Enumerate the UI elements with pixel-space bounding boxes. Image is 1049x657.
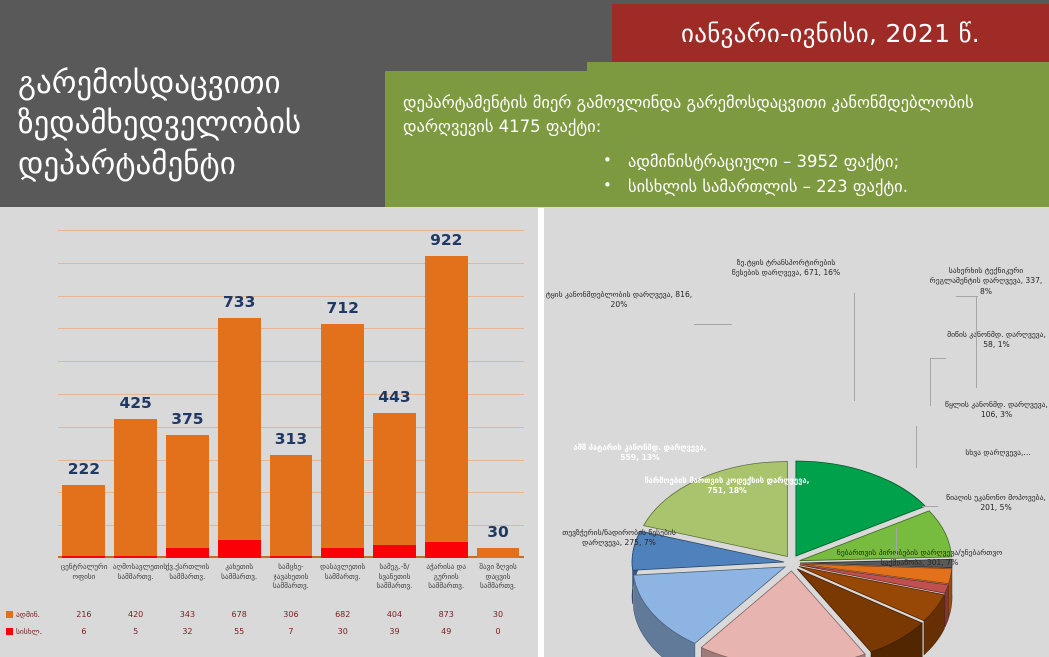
pie-label-leader-line — [916, 426, 917, 468]
pie-slice-label: წარმოების მართვის კოდექსის დარღვევა, 751… — [642, 476, 812, 497]
bar-chart-panel: 22242537573331371244392230 ცენტრალური ოფ… — [0, 208, 538, 657]
legend-value-cells: 65325573039490 — [58, 627, 524, 636]
pie-chart-area: ზე.ტყის ტრანსპორტირების წესების დარღვევა… — [544, 208, 1049, 657]
date-badge: იანვარი-ივნისი, 2021 წ. — [612, 4, 1049, 62]
legend-value-cell: 216 — [61, 610, 107, 619]
legend-value-cell: 404 — [372, 610, 418, 619]
bar-column[interactable]: 733 — [218, 230, 261, 558]
legend-value-cell: 30 — [320, 627, 366, 636]
legend-swatch-icon — [6, 611, 13, 618]
pie-slice-label: ნებართვის პირობების დარღვევა/უნებართვო ს… — [832, 548, 1007, 569]
bar-segment-admin[interactable] — [270, 455, 313, 555]
legend-value-cell: 343 — [165, 610, 211, 619]
bar-segment-admin[interactable] — [373, 413, 416, 546]
bar-column[interactable]: 313 — [270, 230, 313, 558]
x-axis-label: დასავლეთის სამმართვ. — [320, 562, 366, 604]
legend-value-cell: 6 — [61, 627, 107, 636]
summary-bullet-list: ადმინისტრაციული – 3952 ფაქტი; სისხლის სა… — [403, 149, 1031, 200]
bar-chart-plot-area: 22242537573331371244392230 — [58, 230, 524, 558]
legend-value-cells: 21642034367830668240487330 — [58, 610, 524, 619]
bar-column[interactable]: 375 — [166, 230, 209, 558]
pie-label-leader-line — [694, 324, 732, 325]
bar-segment-admin[interactable] — [218, 318, 261, 540]
bar-column[interactable]: 922 — [425, 230, 468, 558]
bar-stack — [373, 413, 416, 558]
summary-callout: დეპარტამენტის მიერ გამოვლინდა გარემოსდაც… — [385, 71, 1049, 207]
bar-stack — [114, 419, 157, 558]
pie-slice-label: აშშ პატარის კანონმდ. დარღვევა, 559, 13% — [570, 443, 710, 464]
legend-value-cell: 420 — [113, 610, 159, 619]
pie-label-leader-line — [930, 358, 946, 359]
bar-stack — [166, 435, 209, 558]
legend-value-cell: 306 — [268, 610, 314, 619]
bar-column[interactable]: 443 — [373, 230, 416, 558]
pie-slice-label: ტყის კანონმდებლობის დარღვევა, 816, 20% — [544, 290, 694, 311]
x-axis-label: შავი ზღვის დაცვის სამმართვ. — [475, 562, 521, 604]
legend-swatch-icon — [6, 628, 13, 635]
summary-bullet-item: სისხლის სამართლის – 223 ფაქტი. — [403, 174, 1031, 200]
bar-stack — [477, 548, 520, 558]
bar-segment-criminal[interactable] — [114, 556, 157, 558]
bar-segment-admin[interactable] — [477, 548, 520, 558]
pie-label-leader-line — [922, 506, 938, 507]
pie-slice-label: წყლის კანონმდ. დარღვევა, 106, 3% — [944, 400, 1049, 421]
summary-lead-text: დეპარტამენტის მიერ გამოვლინდა გარემოსდაც… — [403, 91, 1031, 139]
date-badge-text: იანვარი-ივნისი, 2021 წ. — [681, 19, 980, 48]
bar-segment-criminal[interactable] — [166, 548, 209, 558]
bar-segment-admin[interactable] — [321, 324, 364, 548]
pie-slice-label: ზე.ტყის ტრანსპორტირების წესების დარღვევა… — [726, 258, 846, 279]
bar-stack — [62, 485, 105, 558]
x-axis-label: სამცხე-ჯავახეთის სამმართვ. — [268, 562, 314, 604]
bar-stack — [425, 256, 468, 558]
legend-value-cell: 32 — [165, 627, 211, 636]
bar-chart-x-axis-labels: ცენტრალური ოფისიაღმოსავლეთის სამმართვ.ქვ… — [58, 562, 524, 604]
legend-series-name: ადმინ. — [16, 610, 40, 619]
pie-slice-label: სხვა დარღვევა,... — [948, 448, 1048, 458]
pie-chart-panel: ზე.ტყის ტრანსპორტირების წესების დარღვევა… — [544, 208, 1049, 657]
bar-segment-admin[interactable] — [166, 435, 209, 548]
legend-key[interactable]: სისხლ. — [6, 627, 58, 636]
bar-segment-criminal[interactable] — [373, 545, 416, 558]
bar-stack — [321, 324, 364, 558]
legend-row[interactable]: ადმინ.21642034367830668240487330 — [6, 606, 524, 623]
legend-row[interactable]: სისხლ.65325573039490 — [6, 623, 524, 640]
pie-label-leader-line — [930, 358, 931, 406]
pie-label-leader-line — [976, 296, 977, 388]
legend-value-cell: 30 — [475, 610, 521, 619]
legend-value-cell: 0 — [475, 627, 521, 636]
pie-slice-label: წიაღის უკანონო მოპოვება, 201, 5% — [946, 493, 1046, 514]
bar-series-container: 22242537573331371244392230 — [58, 230, 524, 558]
pie-label-leader-line — [956, 296, 978, 297]
bar-stack — [270, 455, 313, 558]
x-axis-label: სამეგ.-ზ/სვანეთის სამმართვ. — [372, 562, 418, 604]
legend-key[interactable]: ადმინ. — [6, 610, 58, 619]
x-axis-label: აჭარისა და გურიის სამმართვ. — [423, 562, 469, 604]
legend-value-cell: 873 — [423, 610, 469, 619]
bar-segment-admin[interactable] — [425, 256, 468, 542]
legend-value-cell: 678 — [216, 610, 262, 619]
pie-label-leader-line — [896, 528, 897, 556]
page-title: გარემოსდაცვითი ზედამხედველობის დეპარტამე… — [18, 63, 378, 184]
bar-chart-legend-table: ადმინ.21642034367830668240487330სისხლ.65… — [6, 606, 524, 640]
bar-segment-admin[interactable] — [62, 485, 105, 556]
legend-value-cell: 5 — [113, 627, 159, 636]
pie-slice-label: მიწის კანონმდ. დარღვევა, 58, 1% — [944, 330, 1049, 351]
legend-value-cell: 39 — [372, 627, 418, 636]
bar-column[interactable]: 30 — [477, 230, 520, 558]
bar-segment-criminal[interactable] — [321, 548, 364, 558]
slide-root: იანვარი-ივნისი, 2021 წ. გარემოსდაცვითი ზ… — [0, 0, 1049, 657]
x-axis-label: ცენტრალური ოფისი — [61, 562, 107, 604]
pie-slice-label: თევზჭერის/ნადირობის წესების დარღვევა, 27… — [544, 528, 694, 549]
bar-segment-criminal[interactable] — [218, 540, 261, 558]
bar-segment-criminal[interactable] — [425, 542, 468, 558]
bar-segment-admin[interactable] — [114, 419, 157, 557]
legend-value-cell: 682 — [320, 610, 366, 619]
bar-segment-criminal[interactable] — [270, 556, 313, 558]
x-axis-label: კახეთის სამმართვ. — [216, 562, 262, 604]
x-axis-label: აღმოსავლეთის სამმართვ. — [113, 562, 159, 604]
legend-value-cell: 49 — [423, 627, 469, 636]
legend-series-name: სისხლ. — [16, 627, 42, 636]
legend-value-cell: 7 — [268, 627, 314, 636]
summary-bullet-item: ადმინისტრაციული – 3952 ფაქტი; — [403, 149, 1031, 175]
bar-column[interactable]: 425 — [114, 230, 157, 558]
pie-label-leader-line — [854, 293, 855, 401]
legend-value-cell: 55 — [216, 627, 262, 636]
bar-value-label: 30 — [455, 523, 541, 541]
bar-segment-criminal[interactable] — [62, 556, 105, 558]
x-axis-label: ქვ.ქართლის სამმართვ. — [165, 562, 211, 604]
pie-slice-label: სახერხის ტექნიკური რეგლამენტის დარღვევა,… — [926, 266, 1046, 297]
